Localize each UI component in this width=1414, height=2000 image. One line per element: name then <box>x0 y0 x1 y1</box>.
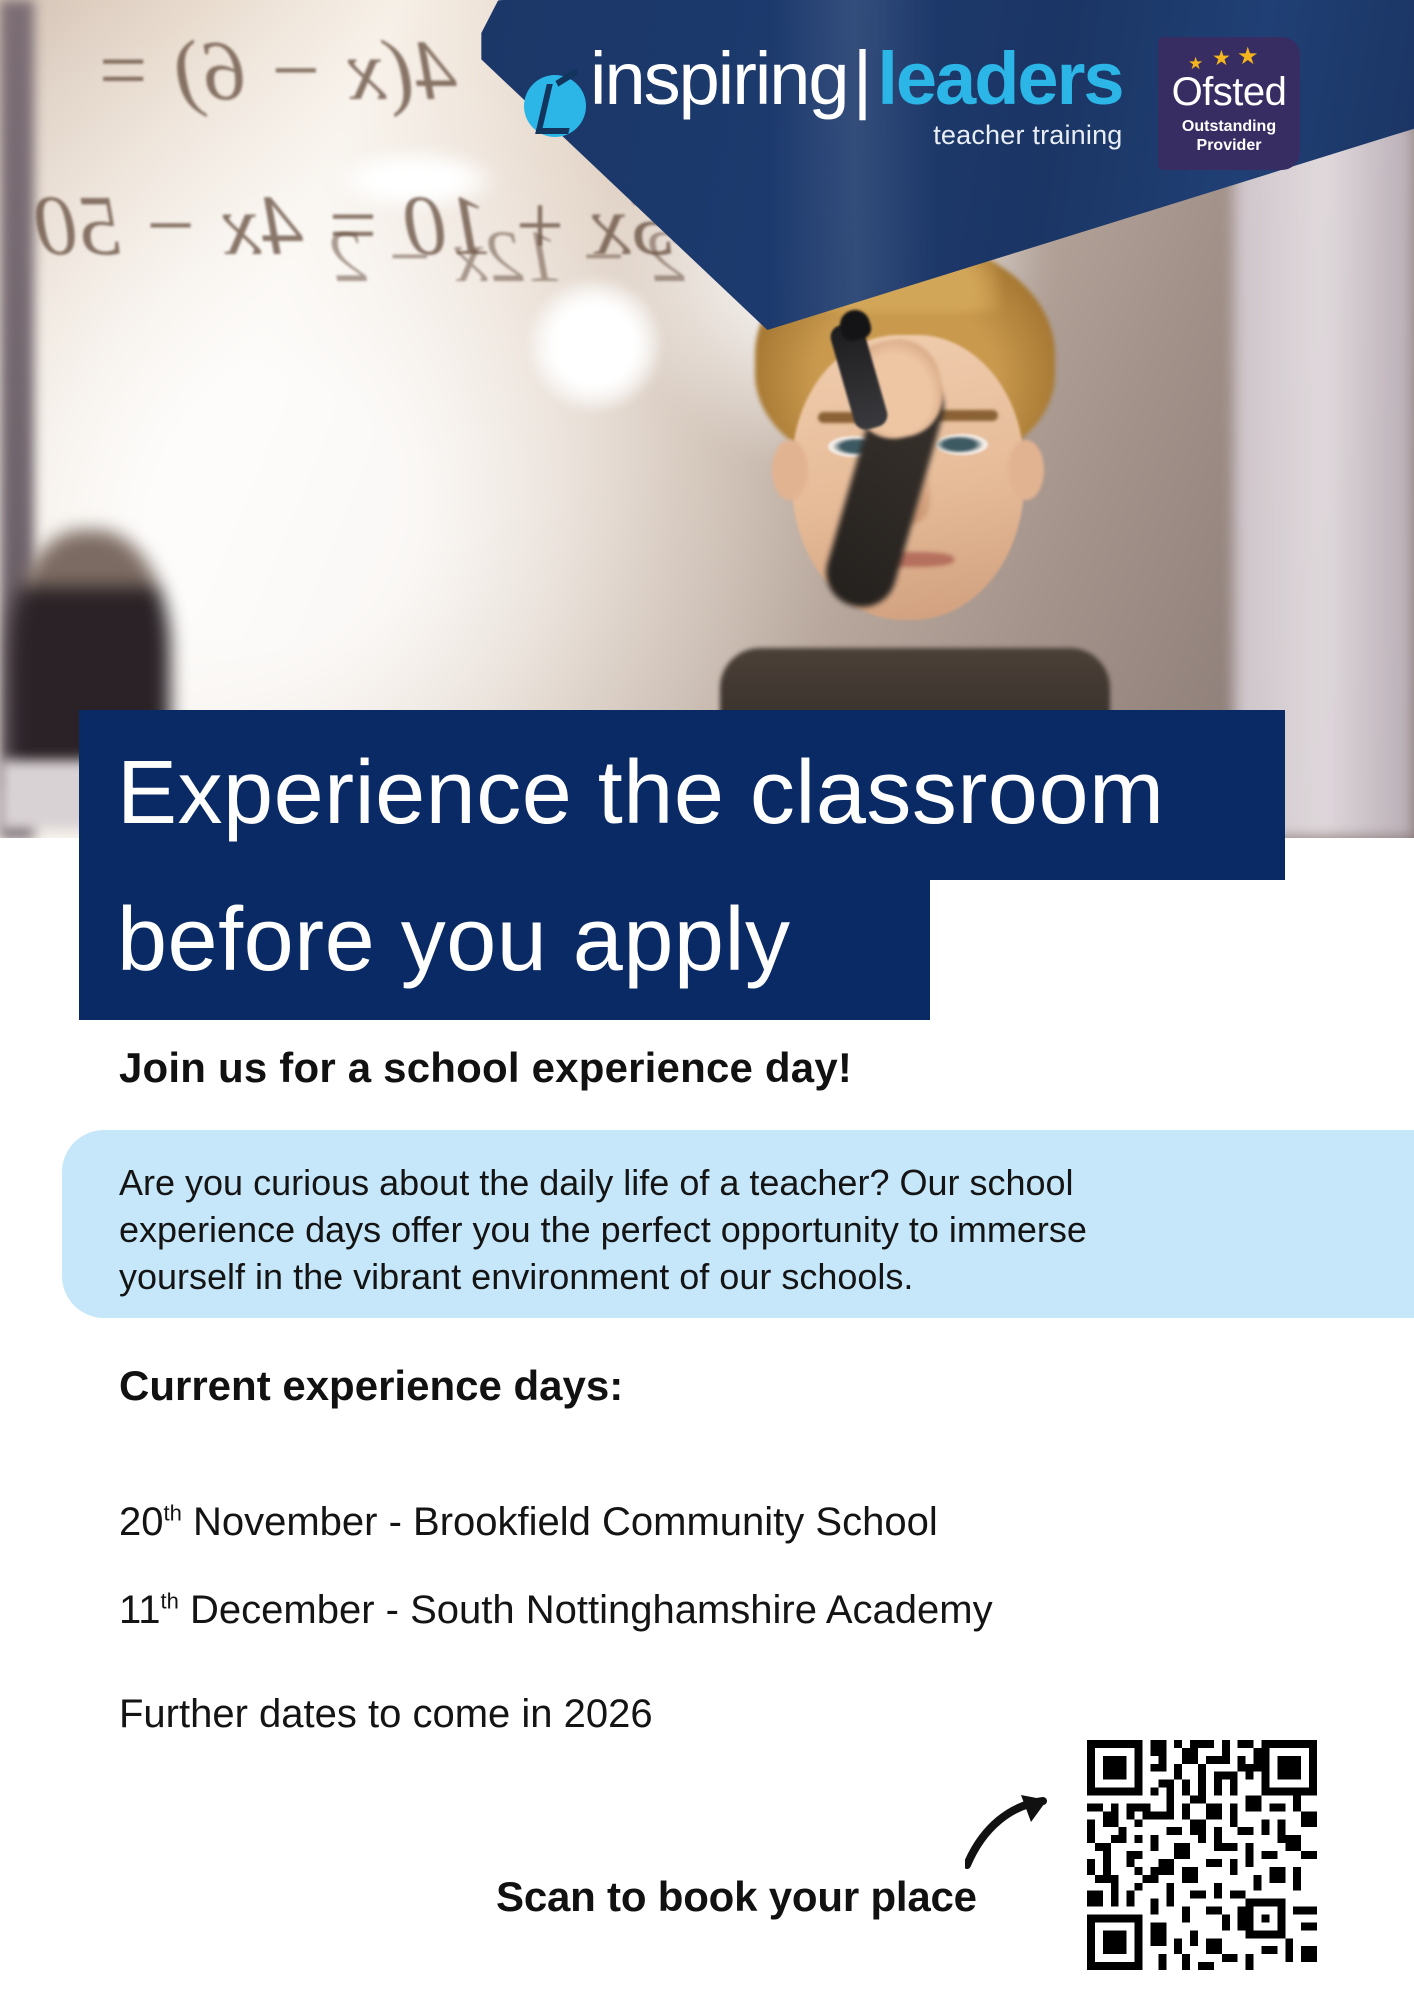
further-dates-note: Further dates to come in 2026 <box>119 1692 653 1737</box>
experience-date-2: 11th December - South Nottinghamshire Ac… <box>119 1588 993 1633</box>
qr-code[interactable] <box>1087 1740 1317 1970</box>
logo-word-leaders: leaders <box>877 45 1122 113</box>
intro-line-3: yourself in the vibrant environment of o… <box>119 1254 1299 1301</box>
ofsted-line1: Outstanding <box>1158 118 1300 137</box>
inspiring-leaders-mark-icon <box>524 75 586 137</box>
intro-paragraph: Are you curious about the daily life of … <box>119 1160 1299 1300</box>
student-ear-left <box>772 440 808 500</box>
date-2-rest: December - South Nottinghamshire Academy <box>179 1588 993 1632</box>
ofsted-line2: Provider <box>1158 137 1300 156</box>
logo-word-inspiring: inspiring <box>590 45 848 113</box>
brand-logo: inspiring | leaders teacher training <box>524 44 1123 151</box>
ofsted-outstanding-badge: ★★★ Ofsted Outstanding Provider <box>1158 37 1300 170</box>
dates-heading: Current experience days: <box>119 1362 623 1410</box>
intro-line-2: experience days offer you the perfect op… <box>119 1207 1299 1254</box>
brand-wordmark: inspiring | leaders teacher training <box>590 44 1123 151</box>
experience-date-1: 20th November - Brookfield Community Sch… <box>119 1500 938 1545</box>
date-2-day: 11 <box>119 1588 161 1632</box>
date-1-ordinal: th <box>164 1501 182 1526</box>
curved-arrow-icon <box>965 1793 1055 1873</box>
logo-divider: | <box>853 44 873 114</box>
whiteboard-equation-1: 4(x − 6) = <box>95 20 457 120</box>
student-eye-right <box>936 434 988 455</box>
headline-line-2: before you apply <box>117 895 790 985</box>
ofsted-stars-icon: ★★★ <box>1158 48 1300 70</box>
subheading: Join us for a school experience day! <box>119 1044 852 1092</box>
scan-to-book-label: Scan to book your place <box>496 1873 977 1921</box>
ofsted-title: Ofsted <box>1158 72 1300 112</box>
date-1-day: 20 <box>119 1500 164 1544</box>
date-2-ordinal: th <box>161 1589 179 1614</box>
student-ear-right <box>1008 440 1044 500</box>
headline-line-1: Experience the classroom <box>117 748 1164 838</box>
logo-tagline: teacher training <box>590 120 1123 151</box>
intro-line-1: Are you curious about the daily life of … <box>119 1160 1299 1207</box>
date-1-rest: November - Brookfield Community School <box>182 1500 938 1544</box>
